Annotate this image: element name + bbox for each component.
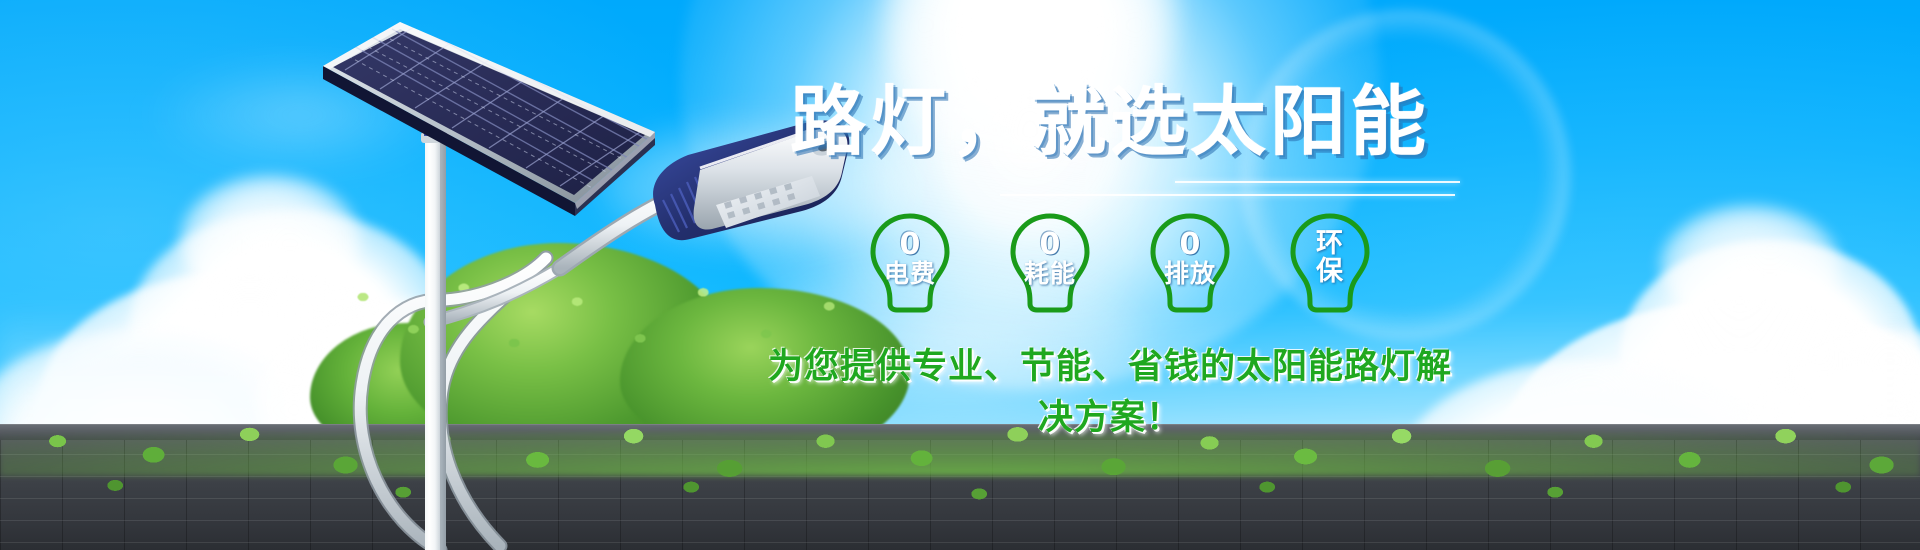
hero-banner: 路灯，就选太阳能 0 电费 0 耗能 xyxy=(0,0,1920,550)
page-title: 路灯，就选太阳能 xyxy=(760,84,1460,160)
badge-content: 环保 xyxy=(1316,230,1344,285)
badge-content: 0 电费 xyxy=(884,230,936,286)
decorative-rule-short xyxy=(1175,181,1460,183)
feature-badge-huanbao: 环保 xyxy=(1276,208,1384,316)
badge-label-char: 保 xyxy=(1316,258,1344,286)
decorative-rule-long xyxy=(1000,194,1455,196)
hero-subtitle: 为您提供专业、节能、省钱的太阳能路灯解决方案！ xyxy=(760,338,1460,440)
cloud-icon xyxy=(150,60,450,170)
feature-badge-haoneng: 0 耗能 xyxy=(996,208,1104,316)
feature-badge-list: 0 电费 0 耗能 0 排放 xyxy=(760,208,1460,316)
badge-label: 耗能 xyxy=(1024,261,1076,287)
badge-label-char: 环 xyxy=(1316,230,1344,258)
badge-content: 0 排放 xyxy=(1164,230,1216,286)
badge-label: 排放 xyxy=(1164,261,1216,287)
hero-copy: 路灯，就选太阳能 0 电费 0 耗能 xyxy=(760,84,1460,440)
badge-zero: 0 xyxy=(900,230,921,261)
feature-badge-paifang: 0 排放 xyxy=(1136,208,1244,316)
badge-label: 电费 xyxy=(884,261,936,287)
badge-label-line1: 环保 xyxy=(1316,230,1344,285)
badge-content: 0 耗能 xyxy=(1024,230,1076,286)
badge-zero: 0 xyxy=(1040,230,1061,261)
decorative-divider xyxy=(760,176,1460,202)
badge-zero: 0 xyxy=(1180,230,1201,261)
feature-badge-dianfei: 0 电费 xyxy=(856,208,964,316)
